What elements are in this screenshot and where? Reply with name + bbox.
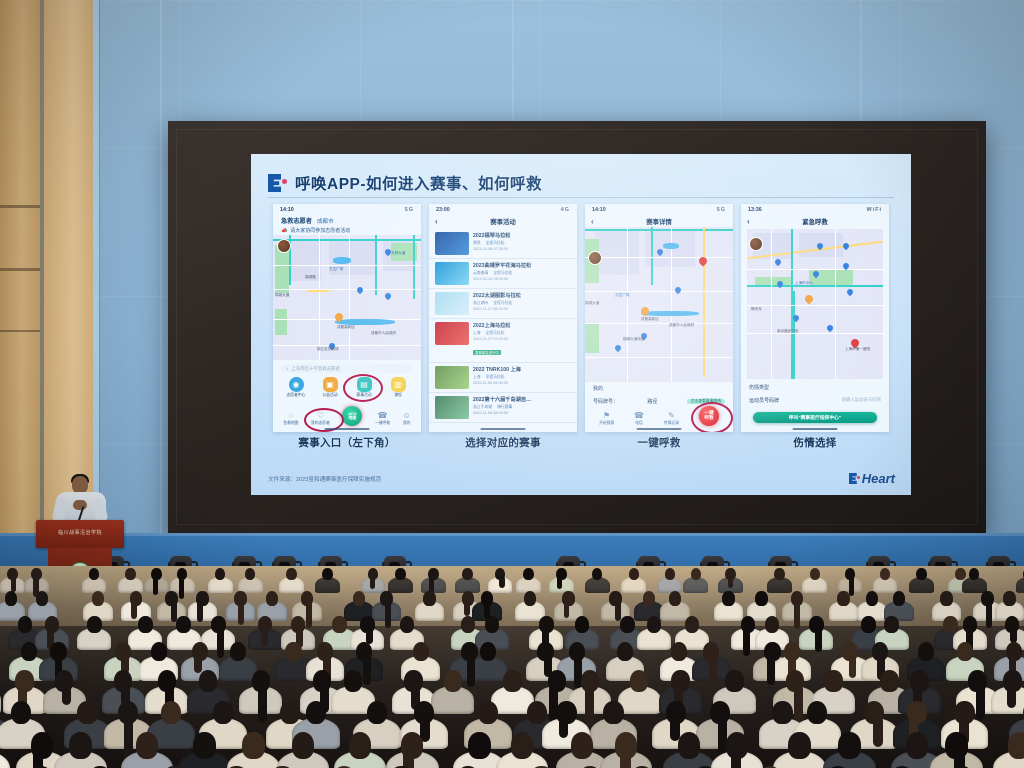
quick-action-label: 志愿者中心 [287,393,306,398]
bib-number-label: 运动员号码牌 [749,397,779,404]
app-header-title: 急救志愿者 [281,216,312,225]
title-divider [268,197,894,198]
podium-sign-text: 临川战事沿治学院 [36,529,124,536]
phone-mockup-4: 13:36 WiFi ‹ 紧急呼救 [741,204,889,432]
quick-action-courses[interactable]: ▥ 课程 [381,377,415,398]
quick-action-events[interactable]: ▤ 赛事活动 [347,377,381,398]
quick-action-volunteer-center[interactable]: ◉ 志愿者中心 [279,377,313,398]
quick-action-grid: ◉ 志愿者中心 ▣ 公益活动 ▤ 赛事活动 [273,375,421,400]
user-avatar [277,239,291,253]
event-thumbnail [435,366,469,389]
person-icon: ☺ [403,412,411,420]
aed-map-button[interactable]: AED地图 [342,406,362,426]
quick-action-label: 公益活动 [322,393,337,398]
volunteer-center-icon: ◉ [289,377,304,392]
list-item[interactable]: 2022上海马拉松 上海 全程马拉松 2022-11-27 07:00:00 赛… [429,319,577,363]
phone-icon: ☎ [377,412,387,420]
home-indicator [481,428,526,430]
projection-screen: 呼唤APP-如何进入赛事、如何呼救 14:10 5G 急救志愿者 成都市 [251,154,911,495]
status-time: 14:10 [280,207,294,213]
tab-profile[interactable]: ☺ 我的 [403,412,411,426]
megaphone-icon: 📣 [281,228,287,234]
status-signal: WiFi [867,207,882,213]
phone-icon: ☎ [634,412,644,420]
event-title: 2023曲靖罗平花海马拉松 [473,262,571,269]
event-title: 2022太湖图影马拉松 [473,292,571,299]
status-signal: 4G [561,207,570,213]
list-item[interactable]: 2022 TNRK100 上海 上海 半程马拉松 2022-11-06 09:0… [429,363,577,393]
route-pill-button[interactable]: 点击查看赛事路线 [687,399,725,404]
heart-icon: ♡ [317,412,324,420]
back-icon[interactable]: ‹ [435,217,438,226]
tab-label: 传情记录 [664,421,679,426]
map-view-1[interactable]: 万达广场 锦绣路 锦城大道 成都高新区 成都市人民政府 天府大道 锦江百货商场 [273,235,421,360]
event-title: 2022第十六届千岛湖自… [473,396,571,403]
event-thumbnail [435,232,469,255]
caption-3: 一键呼救 [585,435,733,450]
event-type: 半程马拉松 [486,375,505,380]
status-time: 23:00 [436,207,450,213]
tab-sos[interactable]: 一键呼救 [699,406,719,426]
event-thumbnail [435,262,469,285]
event-date: 2023-02-26 08:30:00 [473,277,571,281]
caption-row: 赛事入口（左下角） 选择对应的赛事 一键呼救 伤情选择 [273,435,889,450]
home-indicator [637,428,682,430]
tab-one-key-call[interactable]: ☎ 一键呼救 [375,412,390,426]
event-date: 2022-11-06 08:00:00 [473,411,571,415]
nav-title: 赛事活动 [490,217,516,226]
event-city: 常熟 [473,241,481,246]
slide-header: 呼唤APP-如何进入赛事、如何呼救 [268,172,542,194]
tab-label: 我的志愿者 [311,421,330,426]
home-indicator [325,428,370,430]
tab-first-aid-map[interactable]: ◌ 急救地图 [283,412,298,426]
user-avatar [588,251,602,265]
event-list: 2022福琴马拉松 常熟 全程马拉松 2023-01-08 07:30:00 [429,227,577,423]
nav-bar: ‹ 赛事活动 [429,215,577,227]
section-label-row: 我的 [585,382,733,395]
nav-title: 赛事详情 [646,217,672,226]
injury-type-field[interactable]: 伤情类型 [741,381,889,394]
status-bar: 13:36 WiFi [741,204,889,215]
public-welfare-icon: ▣ [323,377,338,392]
phone-mockup-3: 14:10 5G ‹ 赛事详情 [585,204,733,432]
event-status-badge: 赛事报名进行中 [473,350,501,355]
brand-logo: Heart [849,471,895,486]
nav-bar: ‹ 赛事详情 [585,215,733,227]
pillar-seam [0,330,40,332]
status-bar: 23:00 4G [429,204,577,215]
event-city: 云南曲靖 [473,271,488,276]
nav-title: 紧急呼救 [802,217,828,226]
event-type: 全程马拉松 [486,241,505,246]
list-item[interactable]: 2022福琴马拉松 常熟 全程马拉松 2023-01-08 07:30:00 [429,229,577,259]
events-icon: ▤ [357,377,372,392]
event-thumbnail [435,292,469,315]
bottom-tab-bar-3: ⚑ 开始预赛 ☎ 电话 ✎ 传情记录 [585,406,733,426]
flag-icon: ⚑ [603,412,610,420]
bib-number-placeholder: 请输入运动员号码牌 [841,397,881,404]
status-time: 13:36 [748,207,762,213]
notice-text: 请大家协同参加志愿者活动 [290,227,350,234]
list-item[interactable]: 2022第十六届千岛湖自… 浙江千岛湖 骑行赛事 2022-11-06 08:0… [429,393,577,423]
event-title: 2022上海马拉松 [473,322,571,329]
brand-name: Heart [862,471,895,486]
back-icon[interactable]: ‹ [747,217,750,226]
courses-icon: ▥ [391,377,406,392]
pillar-seam [0,268,40,271]
tab-label: 开始预赛 [599,421,614,426]
event-date: 2022-11-06 09:00:00 [473,381,571,385]
event-date: 2023-01-08 07:30:00 [473,247,571,251]
sos-button[interactable]: 一键呼救 [699,406,719,426]
tab-label: 电话 [635,421,643,426]
map-icon: ◌ [288,412,293,420]
app-header-city: 成都市 [317,217,334,225]
event-city: 上海 [473,375,481,380]
map-view-3[interactable]: 万达广场 锦城大道 成都高新区 成都市人民政府 锦绣大道街道 [585,227,733,382]
event-type: 全程马拉松 [493,301,512,306]
nav-bar: ‹ 紧急呼救 [741,215,889,227]
bottom-tab-bar-1: ◌ 急救地图 ♡ 我的志愿者 AED地图 [273,406,421,426]
audience-seating [0,566,1024,768]
section-label: 我的 [593,385,603,392]
status-bar: 14:10 5G [585,204,733,215]
eheart-logo-icon [268,174,287,192]
stage-panel-highlight [0,533,1024,536]
quick-action-label: 赛事活动 [356,393,371,398]
event-type: 骑行赛事 [497,405,512,410]
slide-title: 呼唤APP-如何进入赛事、如何呼救 [295,172,542,194]
back-icon[interactable]: ‹ [591,217,594,226]
projection-screen-frame: 呼唤APP-如何进入赛事、如何呼救 14:10 5G 急救志愿者 成都市 [168,121,986,533]
tab-start-race[interactable]: ⚑ 开始预赛 [599,412,614,426]
event-title: 2022 TNRK100 上海 [473,366,571,373]
app-header: 急救志愿者 成都市 [273,215,421,226]
current-location-pin [803,293,814,304]
screenshot-root: 呼唤APP-如何进入赛事、如何呼救 14:10 5G 急救志愿者 成都市 [0,0,1024,768]
phone-mockup-1: 14:10 5G 急救志愿者 成都市 📣 请大家协同参加志愿者活动 [273,204,421,432]
tab-label: 我的 [403,421,411,426]
tab-records[interactable]: ✎ 传情记录 [664,412,679,426]
search-input[interactable]: ⌕ 上海市红十字急救志愿者 [281,364,413,373]
event-date: 2022-11-27 07:00:00 [473,337,571,341]
home-indicator [793,428,838,430]
presentation-slide: 呼唤APP-如何进入赛事、如何呼救 14:10 5G 急救志愿者 成都市 [251,154,911,495]
eheart-mark-icon [849,473,860,484]
event-thumbnail [435,322,469,345]
event-type: 全程马拉松 [486,331,505,336]
event-date: 2022-11-27 08:00:00 [473,307,571,311]
status-signal: 5G [717,207,726,213]
status-signal: 5G [405,207,414,213]
route-value: 路径 [647,398,657,405]
tab-phone[interactable]: ☎ 电话 [634,412,644,426]
quick-action-label: 课程 [394,393,402,398]
status-bar: 14:10 5G [273,204,421,215]
pillar-seam [0,205,40,208]
caption-1: 赛事入口（左下角） [273,435,421,450]
status-time: 14:10 [592,207,606,213]
event-city: 浙江千岛湖 [473,405,492,410]
notice-banner: 📣 请大家协同参加志愿者活动 [273,226,421,235]
event-city: 上海 [473,331,481,336]
speaker-hands [73,500,87,510]
injury-type-label: 伤情类型 [749,384,769,391]
event-title: 2022福琴马拉松 [473,232,571,239]
user-avatar [749,237,763,251]
slide-footer-source: 文件来源：2023昱和通赛事医疗保障实施规范 [268,475,381,483]
event-thumbnail [435,396,469,419]
event-type: 全程马拉松 [493,271,512,276]
phone-mockup-2: 23:00 4G ‹ 赛事活动 2022福琴马拉松 [429,204,577,432]
call-command-center-button[interactable]: 呼叫"赛事医疗指挥中心" [753,412,877,423]
caption-4: 伤情选择 [741,435,889,450]
search-icon: ⌕ [286,366,288,371]
bib-number-field[interactable]: 运动员号码牌 请输入运动员号码牌 [741,394,889,407]
tab-label: 急救地图 [283,421,298,426]
tab-label: 一键呼救 [375,421,390,426]
bib-label: 号码牌号： [593,398,618,405]
caption-2: 选择对应的赛事 [429,435,577,450]
map-view-4[interactable]: 上海市中心 静安寺 上海市第一医院 南京路步行街 [747,229,883,379]
quick-action-public-welfare[interactable]: ▣ 公益活动 [313,377,347,398]
wall-seam [160,0,162,600]
tab-my-volunteer[interactable]: ♡ 我的志愿者 [311,412,330,426]
tab-aed-map[interactable]: AED地图 [342,406,362,426]
search-placeholder: 上海市红十字急救志愿者 [291,366,339,372]
phone-mockups: 14:10 5G 急救志愿者 成都市 📣 请大家协同参加志愿者活动 [273,204,889,432]
list-item[interactable]: 2022太湖图影马拉松 浙江湖州 全程马拉松 2022-11-27 08:00:… [429,289,577,319]
podium-top: 临川战事沿治学院 [36,520,124,548]
list-item[interactable]: 2023曲靖罗平花海马拉松 云南曲靖 全程马拉松 2023-02-26 08:3… [429,259,577,289]
note-icon: ✎ [668,412,675,420]
event-city: 浙江湖州 [473,301,488,306]
